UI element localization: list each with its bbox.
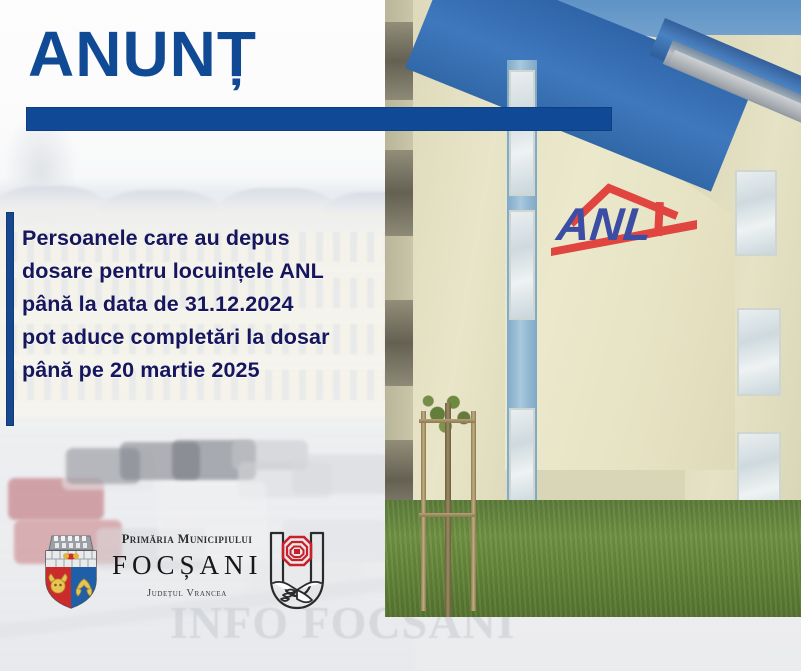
city-hall-wordmark: Primăria Municipiului FOCȘANI Județul Vr…: [112, 532, 262, 599]
photo-window: [737, 308, 781, 396]
anl-building-sign: ANL: [545, 168, 705, 256]
announcement-poster: INFO FOCSANI: [0, 0, 801, 671]
photo-window: [509, 70, 535, 196]
photo-tree-crossbar: [419, 419, 475, 423]
photo-window: [509, 408, 535, 508]
photo-tree-trunk: [445, 403, 451, 617]
message-accent-bar: [6, 212, 14, 426]
building-photo: ANL: [385, 0, 801, 617]
photo-tree: [413, 395, 483, 617]
photo-balcony: [385, 150, 415, 236]
photo-tree-stake: [471, 411, 476, 611]
svg-text:ANL: ANL: [553, 198, 654, 250]
page-title: ANUNȚ: [28, 22, 257, 86]
photo-window: [735, 170, 777, 256]
photo-tree-crossbar: [419, 513, 475, 517]
coat-of-arms-icon: [40, 530, 102, 610]
city-line-primaria: Primăria Municipiului: [112, 532, 262, 547]
title-underline-bar: [26, 107, 612, 131]
photo-tree-stake: [421, 411, 426, 611]
photo-balcony: [385, 300, 415, 386]
handshake-logo-icon: [264, 529, 330, 613]
photo-window: [509, 210, 535, 320]
footer-logos: Primăria Municipiului FOCȘANI Județul Vr…: [32, 528, 332, 618]
city-line-focsani: FOCȘANI: [112, 550, 262, 581]
message-line: dosare pentru locuințele ANL: [22, 255, 387, 288]
message-line: până la data de 31.12.2024: [22, 288, 387, 321]
announcement-message: Persoanele care au depus dosare pentru l…: [22, 222, 387, 387]
city-line-judetul: Județul Vrancea: [112, 588, 262, 599]
message-line: până pe 20 martie 2025: [22, 354, 387, 387]
message-line: pot aduce completări la dosar: [22, 321, 387, 354]
background-car: [292, 454, 388, 494]
message-line: Persoanele care au depus: [22, 222, 387, 255]
